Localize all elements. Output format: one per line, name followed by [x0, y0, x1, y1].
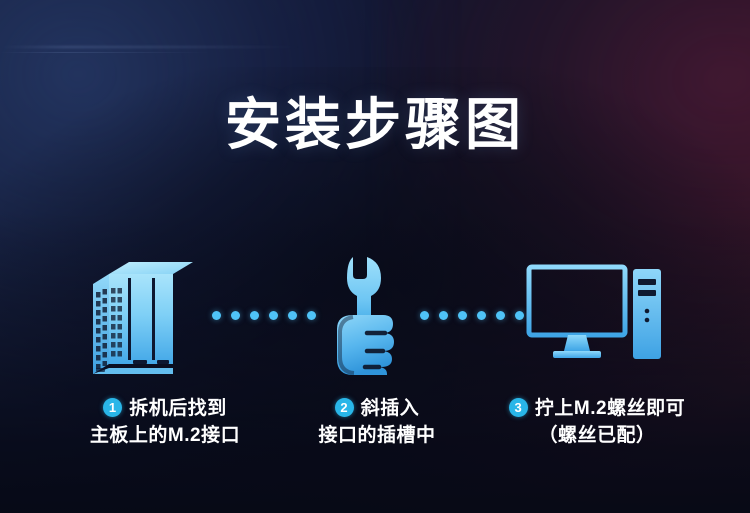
dotted-connector-2	[420, 250, 524, 380]
step-1-text-line-2: 主板上的M.2接口	[40, 423, 290, 450]
desktop-computer-icon	[510, 250, 680, 380]
hand-wrench-icon	[300, 250, 430, 380]
page-title: 安装步骤图	[0, 96, 750, 155]
step-3-line-1: 3拧上M.2螺丝即可	[462, 396, 732, 423]
step-2: 2斜插入 接口的插槽中	[282, 396, 472, 450]
background-light-streak-2	[0, 52, 210, 53]
step-1: 1拆机后找到 主板上的M.2接口	[40, 396, 290, 450]
connector-dot	[496, 311, 505, 320]
step-2-number-badge: 2	[335, 398, 354, 417]
server-tower-icon	[58, 250, 228, 380]
step-1-number-badge: 1	[103, 398, 122, 417]
process-flow-row	[0, 250, 750, 380]
step-3-text-line-2: （螺丝已配）	[462, 423, 732, 450]
connector-dot	[288, 311, 297, 320]
connector-dot	[250, 311, 259, 320]
step-1-line-1: 1拆机后找到	[40, 396, 290, 423]
step-2-line-1: 2斜插入	[282, 396, 472, 423]
installation-steps-infographic: 安装步骤图	[0, 0, 750, 513]
connector-dot	[269, 311, 278, 320]
step-2-text-line-2: 接口的插槽中	[282, 423, 472, 450]
background-light-streak	[0, 46, 300, 48]
connector-dot	[477, 311, 486, 320]
connector-dot	[420, 311, 429, 320]
step-caption-row: 1拆机后找到 主板上的M.2接口 2斜插入 接口的插槽中 3拧上M.2螺丝即可 …	[0, 396, 750, 466]
step-3-text-line-1: 拧上M.2螺丝即可	[535, 398, 685, 419]
step-1-text-line-1: 拆机后找到	[129, 398, 227, 419]
connector-dot	[212, 311, 221, 320]
connector-dot	[458, 311, 467, 320]
step-3-number-badge: 3	[509, 398, 528, 417]
step-2-text-line-1: 斜插入	[361, 398, 420, 419]
connector-dot	[439, 311, 448, 320]
step-3: 3拧上M.2螺丝即可 （螺丝已配）	[462, 396, 732, 450]
connector-dot	[231, 311, 240, 320]
